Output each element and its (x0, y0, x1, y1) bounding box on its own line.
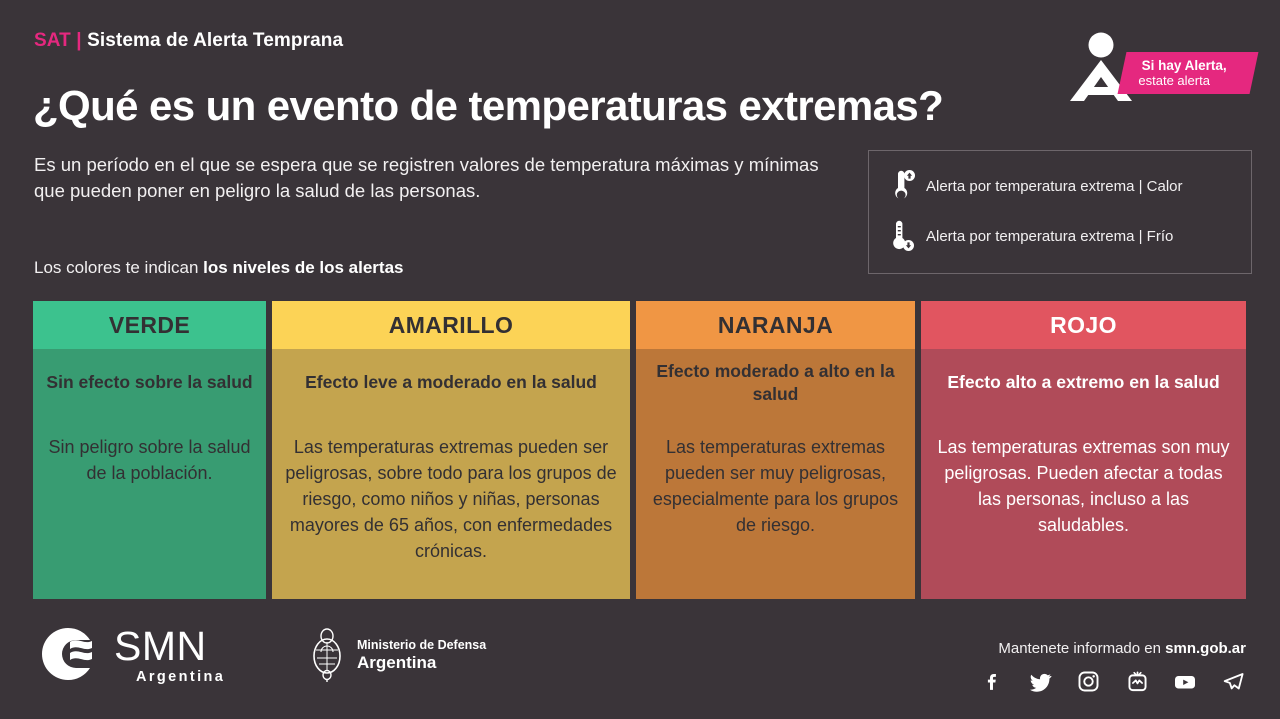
alert-column-naranja-header: NARANJA (636, 301, 915, 349)
alert-column-naranja: NARANJA Efecto moderado a alto en la sal… (636, 301, 915, 599)
intro-paragraph: Es un período en el que se espera que se… (34, 152, 824, 204)
smn-name: SMN (114, 624, 225, 668)
facebook-icon[interactable] (980, 669, 1005, 694)
alerta-banner-line1: Si hay Alerta, (1142, 58, 1256, 73)
tv-news-icon[interactable] (1125, 669, 1150, 694)
alert-column-amarillo-body: Las temperaturas extremas pueden ser pel… (272, 416, 630, 599)
alert-column-rojo-subtitle: Efecto alto a extremo en la salud (921, 349, 1246, 416)
instagram-icon[interactable] (1076, 669, 1101, 694)
alert-column-amarillo-subtitle: Efecto leve a moderado en la salud (272, 349, 630, 416)
alert-column-rojo-header: ROJO (921, 301, 1246, 349)
smn-logo: SMN Argentina (40, 624, 255, 686)
legend-item-heat: Alerta por temperatura extrema | Calor (869, 161, 1251, 211)
alert-column-verde: VERDE Sin efecto sobre la salud Sin peli… (33, 301, 266, 599)
footer-contact: Mantenete informado en smn.gob.ar (956, 640, 1246, 694)
alert-column-verde-subtitle: Sin efecto sobre la salud (33, 349, 266, 416)
alert-column-rojo-body: Las temperaturas extremas son muy peligr… (921, 416, 1246, 599)
alert-column-rojo: ROJO Efecto alto a extremo en la salud L… (921, 301, 1246, 599)
ministry-line2: Argentina (357, 653, 486, 673)
smn-website: smn.gob.ar (1165, 640, 1246, 657)
sat-abbreviation: SAT (34, 30, 71, 51)
alert-column-verde-header: VERDE (33, 301, 266, 349)
ministry-line1: Ministerio de Defensa (357, 638, 486, 653)
levels-caption-bold: los niveles de los alertas (203, 258, 403, 277)
alert-column-naranja-body: Las temperaturas extremas pueden ser muy… (636, 416, 915, 599)
ministry-wordmark: Ministerio de Defensa Argentina (357, 638, 486, 673)
si-hay-alerta-logo: Si hay Alerta, estate alerta (1068, 32, 1254, 102)
alert-column-naranja-subtitle: Efecto moderado a alto en la salud (636, 349, 915, 416)
legend-item-cold: Alerta por temperatura extrema | Frío (869, 211, 1251, 261)
smn-wordmark: SMN Argentina (114, 624, 225, 685)
levels-caption: Los colores te indican los niveles de lo… (34, 258, 403, 278)
sat-full-name: Sistema de Alerta Temprana (87, 30, 343, 51)
alerta-banner-line2: estate alerta (1138, 73, 1252, 88)
smn-circle-waves-icon (40, 626, 110, 682)
thermometer-hot-icon (891, 170, 917, 202)
legend-label-cold: Alerta por temperatura extrema | Frío (926, 228, 1173, 245)
keep-informed-prefix: Mantenete informado en (998, 640, 1165, 657)
ministry-of-defense-logo: Ministerio de Defensa Argentina (307, 627, 486, 683)
argentina-coat-of-arms-icon (307, 628, 347, 682)
keep-informed-text: Mantenete informado en smn.gob.ar (956, 640, 1246, 657)
alert-levels-table: VERDE Sin efecto sobre la salud Sin peli… (33, 301, 1246, 599)
levels-caption-prefix: Los colores te indican (34, 258, 203, 277)
sat-branding: SAT | Sistema de Alerta Temprana (34, 30, 343, 52)
legend-label-heat: Alerta por temperatura extrema | Calor (926, 178, 1183, 195)
telegram-icon[interactable] (1221, 669, 1246, 694)
twitter-icon[interactable] (1028, 669, 1053, 694)
legend-box: Alerta por temperatura extrema | Calor A… (868, 150, 1252, 274)
social-links (956, 669, 1246, 694)
alerta-banner: Si hay Alerta, estate alerta (1118, 52, 1259, 94)
sat-line: SAT | Sistema de Alerta Temprana (34, 30, 343, 52)
alert-column-amarillo: AMARILLO Efecto leve a moderado en la sa… (272, 301, 630, 599)
thermometer-cold-icon (891, 220, 917, 252)
alert-column-amarillo-header: AMARILLO (272, 301, 630, 349)
sat-divider: | (76, 30, 81, 51)
alert-column-verde-body: Sin peligro sobre la salud de la poblaci… (33, 416, 266, 599)
page-title: ¿Qué es un evento de temperaturas extrem… (33, 82, 943, 130)
youtube-icon[interactable] (1173, 669, 1198, 694)
smn-country: Argentina (114, 669, 225, 685)
